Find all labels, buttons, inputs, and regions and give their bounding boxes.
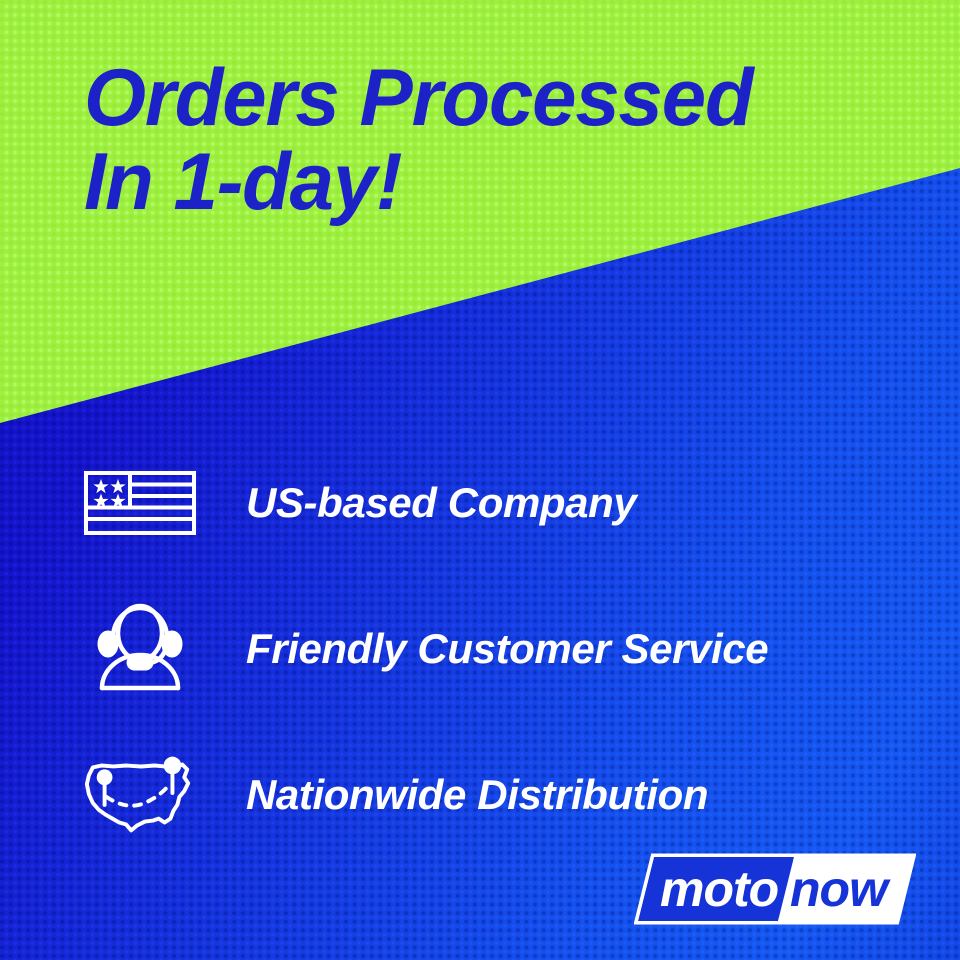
feature-item-customer-service: Friendly Customer Service	[0, 576, 960, 722]
us-flag-icon	[80, 453, 200, 553]
headset-agent-icon	[80, 599, 200, 699]
feature-label: US-based Company	[246, 479, 636, 527]
feature-label: Friendly Customer Service	[246, 625, 768, 673]
motonow-logo[interactable]: moto now	[634, 853, 916, 925]
feature-item-us-based: US-based Company	[0, 430, 960, 576]
logo-text-now: now	[790, 861, 891, 917]
us-map-pins-icon	[80, 745, 200, 845]
feature-list: US-based Company	[0, 430, 960, 868]
promo-graphic: Orders Processed In 1-day!	[0, 0, 960, 960]
feature-item-nationwide: Nationwide Distribution	[0, 722, 960, 868]
feature-label: Nationwide Distribution	[246, 771, 708, 819]
headline: Orders Processed In 1-day!	[84, 56, 931, 224]
logo-text-moto: moto	[660, 861, 778, 917]
